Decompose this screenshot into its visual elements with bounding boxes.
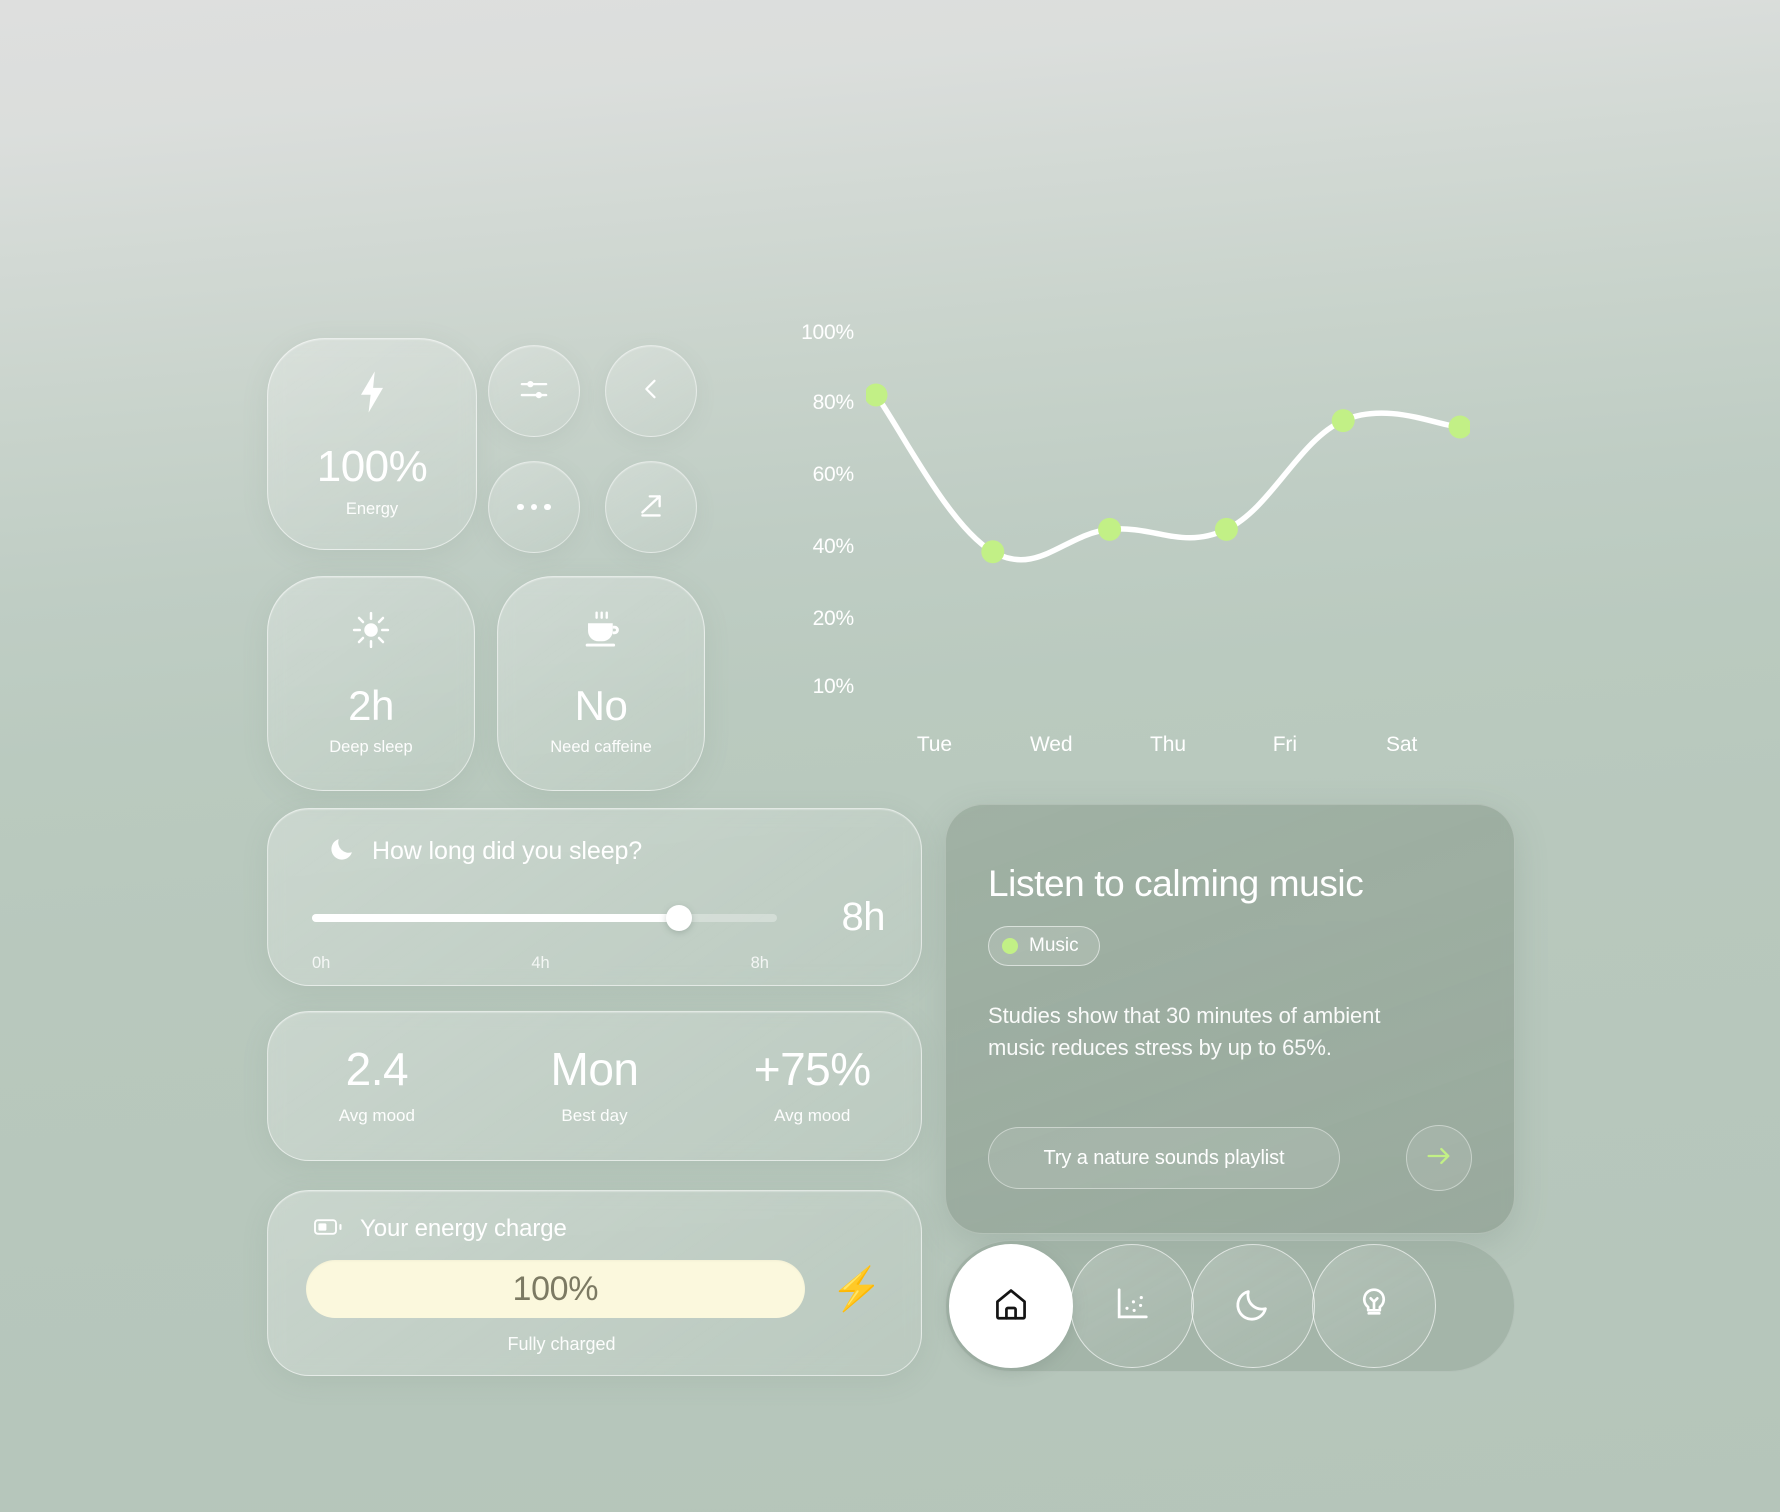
stat-avg-mood: 2.4 Avg mood [268, 1046, 486, 1126]
charge-progress-bar: 100% [306, 1260, 805, 1318]
chart-y-tick: 40% [813, 535, 854, 559]
home-icon [991, 1284, 1031, 1329]
music-card-body: Studies show that 30 minutes of ambient … [988, 1000, 1388, 1064]
sleep-tick-8h: 8h [751, 954, 769, 973]
filters-sliders-icon [517, 372, 551, 411]
battery-icon [314, 1216, 344, 1243]
nav-item-home[interactable] [949, 1244, 1073, 1368]
nav-item-sleep[interactable] [1191, 1244, 1315, 1368]
chart-y-tick: 80% [813, 391, 854, 415]
chart-y-axis: 100%80%60%40%20%10% [780, 325, 854, 725]
moon-icon [328, 835, 356, 868]
sleep-value: 8h [811, 895, 885, 940]
stat-label: Avg mood [774, 1106, 850, 1126]
chart-plot-area [866, 325, 1470, 725]
charge-title: Your energy charge [360, 1215, 567, 1243]
calming-music-card: Listen to calming music Music Studies sh… [945, 804, 1515, 1234]
music-card-actions: Try a nature sounds playlist [988, 1125, 1472, 1191]
music-badge: Music [988, 926, 1100, 966]
chevron-left-icon [637, 375, 665, 408]
energy-value: 100% [317, 445, 428, 489]
sleep-duration-card: How long did you sleep? 8h 0h 4h 8h [267, 808, 922, 986]
chart-x-tick: Wed [1030, 733, 1073, 757]
coffee-cup-icon [580, 610, 622, 655]
sleep-card-header: How long did you sleep? [304, 835, 885, 868]
chart-data-point[interactable] [1449, 416, 1471, 439]
share-arrow-icon [635, 489, 667, 526]
chart-y-tick: 20% [813, 607, 854, 631]
chart-y-tick: 10% [813, 675, 854, 699]
chart-data-point[interactable] [981, 540, 1004, 563]
lightbulb-icon [1355, 1285, 1393, 1328]
energy-line-chart: 100%80%60%40%20%10% TueWedThuFriSat [780, 325, 1510, 785]
charge-percent: 100% [512, 1270, 598, 1309]
stat-label: Avg mood [339, 1106, 415, 1126]
back-button[interactable] [605, 345, 697, 437]
nav-item-insights[interactable] [1312, 1244, 1436, 1368]
charge-bar-row: 100% ⚡ [302, 1260, 887, 1318]
chart-data-point[interactable] [1215, 518, 1238, 541]
caffeine-caption: Need caffeine [550, 738, 652, 757]
share-button[interactable] [605, 461, 697, 553]
energy-charge-card: Your energy charge 100% ⚡ Fully charged [267, 1190, 922, 1376]
chart-y-tick: 60% [813, 463, 854, 487]
chart-x-tick: Thu [1150, 733, 1186, 757]
chart-x-tick: Fri [1273, 733, 1297, 757]
stat-label: Best day [561, 1106, 627, 1126]
more-button[interactable] [488, 461, 580, 553]
filters-button[interactable] [488, 345, 580, 437]
chart-y-tick: 100% [801, 321, 854, 345]
dashboard-root: 100% Energy [0, 0, 1780, 1512]
music-card-title: Listen to calming music [988, 863, 1472, 904]
bottom-navigation [945, 1240, 1515, 1372]
charge-card-header: Your energy charge [302, 1215, 887, 1243]
charge-footer: Fully charged [302, 1334, 887, 1355]
sleep-slider[interactable] [312, 914, 777, 922]
caffeine-tile[interactable]: No Need caffeine [497, 576, 705, 791]
try-playlist-button[interactable]: Try a nature sounds playlist [988, 1127, 1340, 1189]
sleep-slider-handle[interactable] [666, 905, 692, 931]
sleep-slider-row: 8h [304, 895, 885, 940]
sleep-question: How long did you sleep? [372, 837, 642, 866]
chart-x-tick: Tue [917, 733, 952, 757]
chart-data-point[interactable] [1098, 518, 1121, 541]
music-badge-label: Music [1029, 935, 1079, 957]
energy-tile[interactable]: 100% Energy [267, 338, 477, 550]
deep-sleep-value: 2h [348, 685, 394, 727]
sleep-tick-0h: 0h [312, 954, 330, 973]
arrow-right-icon [1424, 1141, 1454, 1176]
energy-caption: Energy [346, 500, 398, 519]
bolt-icon [355, 370, 389, 419]
stat-value: Mon [551, 1046, 639, 1092]
analytics-icon [1112, 1284, 1152, 1329]
sleep-tick-4h: 4h [531, 954, 549, 973]
chart-line [876, 395, 1460, 560]
chart-x-axis: TueWedThuFriSat [866, 733, 1470, 773]
more-ellipsis-icon [517, 504, 551, 511]
mood-stats-card: 2.4 Avg mood Mon Best day +75% Avg mood [267, 1011, 922, 1161]
sleep-slider-fill [312, 914, 679, 922]
stat-value: +75% [754, 1046, 871, 1092]
caffeine-value: No [575, 685, 628, 727]
stat-value: 2.4 [346, 1046, 408, 1092]
chart-svg [866, 325, 1470, 725]
music-next-button[interactable] [1406, 1125, 1472, 1191]
chart-x-tick: Sat [1386, 733, 1417, 757]
sun-icon [351, 610, 391, 655]
chart-data-point[interactable] [1332, 409, 1355, 432]
stat-best-day: Mon Best day [486, 1046, 704, 1126]
nav-item-stats[interactable] [1070, 1244, 1194, 1368]
moon-icon [1234, 1285, 1272, 1328]
stat-avg-mood-change: +75% Avg mood [703, 1046, 921, 1126]
deep-sleep-tile[interactable]: 2h Deep sleep [267, 576, 475, 791]
deep-sleep-caption: Deep sleep [329, 738, 412, 757]
status-dot-icon [1002, 938, 1018, 954]
lightning-bolt-icon: ⚡ [831, 1268, 883, 1310]
sleep-slider-ticks: 0h 4h 8h [304, 954, 885, 973]
